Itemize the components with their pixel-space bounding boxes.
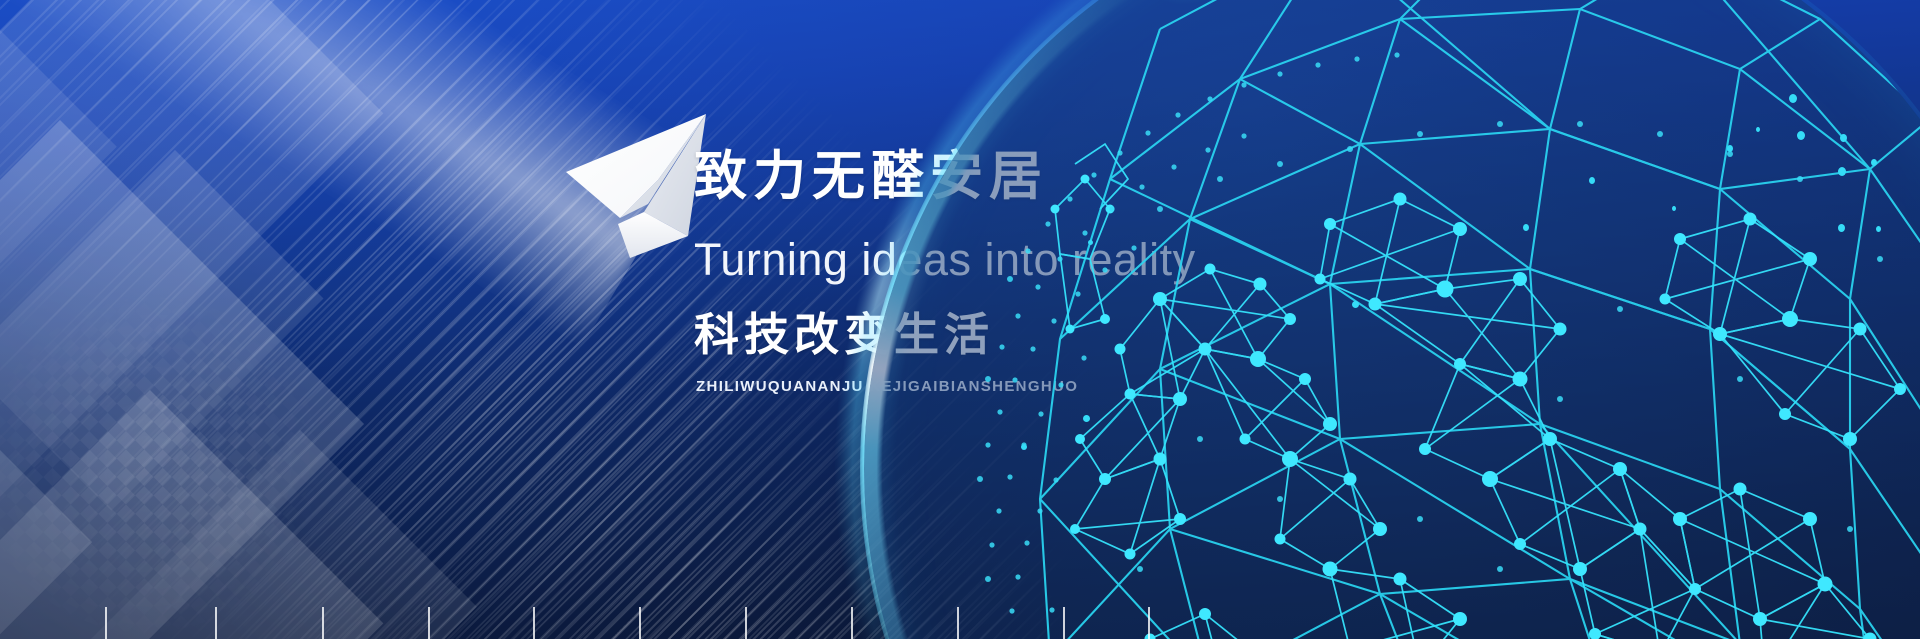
paper-plane-icon (548, 108, 713, 263)
tick-mark (1148, 607, 1150, 639)
decorative-slab (67, 430, 477, 639)
star-dot (1083, 415, 1090, 422)
halftone-pattern (0, 164, 451, 639)
star-dot (1672, 206, 1676, 211)
tick-mark (105, 607, 107, 639)
decorative-slab (0, 0, 117, 514)
star-dot (1756, 127, 1760, 132)
subheadline-chinese: 科技改变生活 (694, 312, 1334, 357)
tick-mark (851, 607, 853, 639)
tick-mark (639, 607, 641, 639)
decorative-slab (0, 0, 383, 509)
hero-copy: 致力无醛安居 Turning ideas into reality 科技改变生活… (694, 150, 1334, 394)
star-dot (1838, 224, 1845, 232)
tick-mark (745, 607, 747, 639)
star-dot (1840, 134, 1847, 142)
pinyin-caption: ZHILIWUQUANANJU KEJIGAIBIANSHENGHUO (696, 379, 1334, 394)
tick-mark (1063, 607, 1065, 639)
star-dot (1838, 167, 1846, 176)
tick-mark (957, 607, 959, 639)
bottom-tick-marks (0, 599, 1200, 639)
star-dot (1871, 159, 1877, 166)
star-dot (1789, 94, 1797, 103)
tick-mark (322, 607, 324, 639)
star-dot (1876, 226, 1881, 232)
decorative-slab (0, 120, 364, 639)
star-dot (1797, 131, 1805, 140)
star-dot (1352, 301, 1359, 308)
globe-hotspot-glow (1125, 0, 1245, 4)
page-title: 致力无醛安居 (694, 150, 1334, 203)
tick-mark (533, 607, 535, 639)
decorative-slab (0, 150, 323, 511)
star-dot (1727, 145, 1733, 152)
headline-english: Turning ideas into reality (694, 237, 1334, 282)
star-dot (1589, 177, 1595, 184)
star-dot (1021, 444, 1027, 450)
star-dot (1523, 224, 1529, 231)
tick-mark (428, 607, 430, 639)
decorative-slab (0, 390, 383, 639)
tick-mark (215, 607, 217, 639)
hero-banner: 致力无醛安居 Turning ideas into reality 科技改变生活… (0, 0, 1920, 639)
decorative-slab (0, 330, 92, 639)
light-trail (0, 0, 700, 347)
